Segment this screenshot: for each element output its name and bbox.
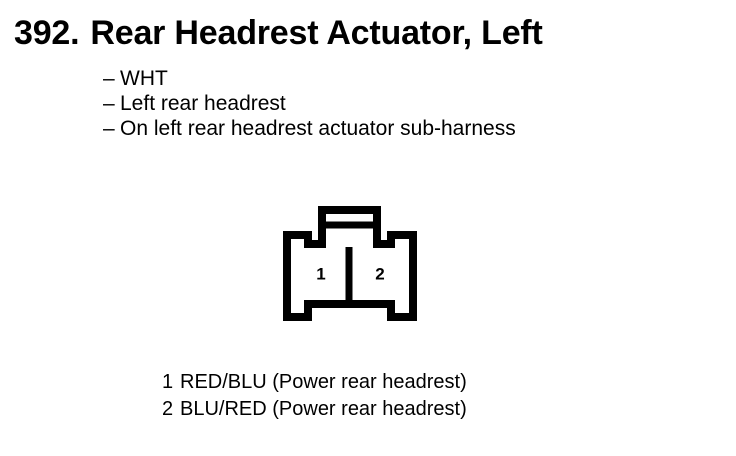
connector-diagram: 1 2 [283, 203, 419, 321]
legend-pin-number: 2 [162, 396, 180, 423]
dash-bullet-icon: – [103, 116, 120, 141]
legend-wire-description: RED/BLU (Power rear headrest) [180, 369, 467, 396]
page-title: 392.Rear Headrest Actuator, Left [14, 14, 714, 52]
legend-pin-number: 1 [162, 369, 180, 396]
dash-bullet-icon: – [103, 91, 120, 116]
list-item-label: Left rear headrest [120, 91, 286, 116]
pin-legend: 1RED/BLU (Power rear headrest) 2BLU/RED … [162, 369, 682, 423]
list-item: –WHT [103, 66, 703, 91]
entry-title: Rear Headrest Actuator, Left [90, 14, 542, 52]
list-item: –On left rear headrest actuator sub-harn… [103, 116, 703, 141]
legend-wire-description: BLU/RED (Power rear headrest) [180, 396, 467, 423]
list-item-label: On left rear headrest actuator sub-harne… [120, 116, 516, 141]
page-canvas: 392.Rear Headrest Actuator, Left –WHT –L… [0, 0, 736, 456]
connector-outline-icon: 1 2 [283, 203, 419, 321]
pin-number-1: 1 [316, 264, 325, 283]
legend-row: 2BLU/RED (Power rear headrest) [162, 396, 682, 423]
list-item-label: WHT [120, 66, 168, 91]
pin-number-2: 2 [375, 264, 384, 283]
dash-bullet-icon: – [103, 66, 120, 91]
description-list: –WHT –Left rear headrest –On left rear h… [103, 66, 703, 141]
entry-number: 392. [14, 14, 79, 52]
list-item: –Left rear headrest [103, 91, 703, 116]
legend-row: 1RED/BLU (Power rear headrest) [162, 369, 682, 396]
